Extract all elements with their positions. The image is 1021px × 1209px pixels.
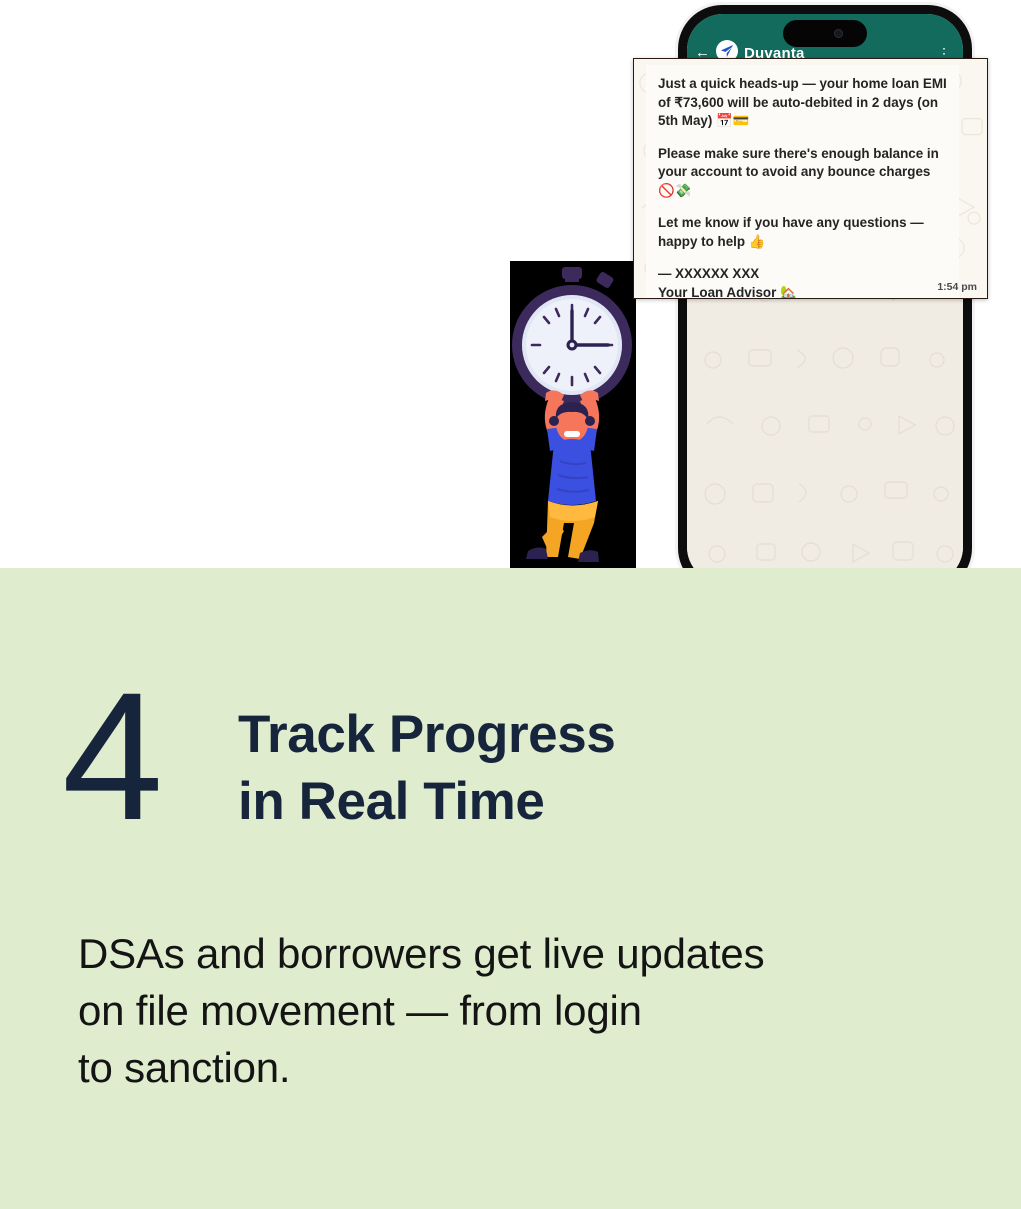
body-line-2: on file movement — from login	[78, 982, 764, 1039]
card-signature-line-2: Your Loan Advisor 🏡	[658, 284, 949, 300]
content-section: 4 Track Progress in Real Time DSAs and b…	[0, 568, 1021, 1209]
card-signature-line-1: — XXXXXX XXX	[658, 265, 949, 284]
zoomed-message-card: Just a quick heads-up — your home loan E…	[633, 58, 988, 299]
stopwatch-man-svg	[510, 261, 636, 568]
body-line-3: to sanction.	[78, 1039, 764, 1096]
message-timestamp: 1:54 pm	[937, 281, 977, 293]
card-paragraph-2: Please make sure there's enough balance …	[658, 145, 949, 201]
dynamic-island-notch	[783, 20, 867, 47]
page-title: Track Progress in Real Time	[238, 686, 615, 836]
body-line-1: DSAs and borrowers get live updates	[78, 925, 764, 982]
top-media-area: ← Duvanta ⋮	[0, 0, 1021, 568]
card-paragraph-3: Let me know if you have any questions — …	[658, 214, 949, 251]
step-number: 4	[62, 686, 238, 828]
body-copy: DSAs and borrowers get live updates on f…	[78, 925, 764, 1096]
heading-row: 4 Track Progress in Real Time	[62, 686, 615, 836]
heading-line-2: in Real Time	[238, 769, 615, 836]
man-holding-stopwatch-illustration	[510, 261, 636, 568]
heading-line-1: Track Progress	[238, 702, 615, 769]
card-paragraph-1: Just a quick heads-up — your home loan E…	[658, 75, 949, 131]
zoomed-message-text: Just a quick heads-up — your home loan E…	[646, 65, 959, 299]
